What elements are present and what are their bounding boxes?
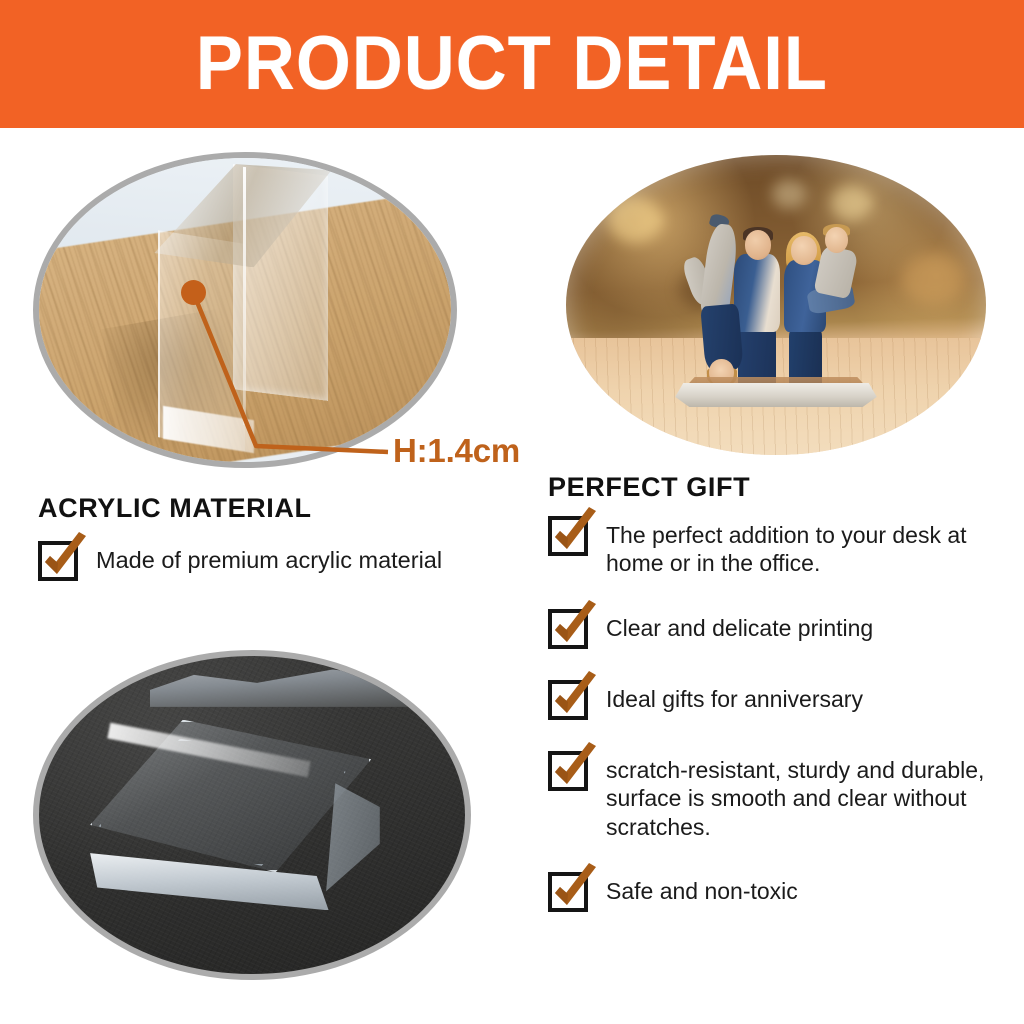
page-header: PRODUCT DETAIL [0, 0, 1024, 128]
perfect-gift-section: PERFECT GIFT The perfect addition to you… [548, 473, 1008, 912]
list-item: The perfect addition to your desk at hom… [548, 516, 1008, 578]
list-item-label: The perfect addition to your desk at hom… [606, 516, 1008, 578]
list-item: Clear and delicate printing [548, 609, 1008, 649]
dimension-label: H:1.4cm [393, 432, 520, 470]
list-item: scratch-resistant, sturdy and durable, s… [548, 751, 1008, 842]
page-title: PRODUCT DETAIL [196, 26, 828, 102]
list-item: Ideal gifts for anniversary [548, 680, 1008, 720]
bokeh-light [608, 197, 662, 243]
family-figurine-photo [566, 155, 986, 455]
checkmark-icon [548, 516, 588, 556]
list-item-label: Clear and delicate printing [606, 609, 873, 643]
bokeh-light [772, 179, 806, 209]
list-item-label: scratch-resistant, sturdy and durable, s… [606, 751, 1008, 842]
section-heading-perfect-gift: PERFECT GIFT [548, 473, 1008, 503]
callout-leader-line [0, 130, 560, 530]
acrylic-material-section: ACRYLIC MATERIAL Made of premium acrylic… [38, 494, 538, 581]
acrylic-slab-photo [33, 650, 471, 980]
slate-edge [150, 662, 465, 707]
checkmark-icon [548, 872, 588, 912]
figurine-base [675, 383, 877, 407]
list-item-label: Ideal gifts for anniversary [606, 680, 863, 714]
checkmark-icon [38, 541, 78, 581]
checkmark-icon [548, 680, 588, 720]
list-item-label: Safe and non-toxic [606, 872, 798, 906]
list-item: Made of premium acrylic material [38, 541, 538, 581]
slab-front-face [90, 853, 329, 910]
bokeh-light [902, 254, 964, 304]
checkmark-icon [548, 609, 588, 649]
bokeh-light [831, 185, 871, 221]
list-item-label: Made of premium acrylic material [96, 541, 442, 575]
father-torso [734, 254, 780, 332]
mother-head [791, 236, 817, 265]
list-item: Safe and non-toxic [548, 872, 1008, 912]
callout-dot [181, 280, 206, 305]
section-heading-acrylic-material: ACRYLIC MATERIAL [38, 494, 538, 524]
checkmark-icon [548, 751, 588, 791]
father-head [745, 230, 772, 260]
